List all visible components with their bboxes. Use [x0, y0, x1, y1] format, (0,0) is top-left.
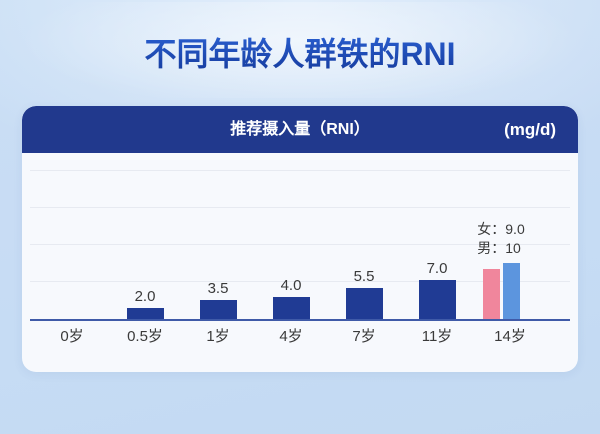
- tick-label-0y: 0岁: [60, 325, 83, 346]
- bar-value-label: 5.5: [354, 268, 375, 285]
- tick-label-11y: 11岁: [422, 325, 453, 346]
- bar-value-label: 7.0: [427, 260, 448, 277]
- bar-group-4y[interactable]: 4.0: [264, 297, 318, 319]
- chart-bars: 2.0 3.5 4.0 5.5 7.0: [30, 153, 570, 319]
- card-header: 推荐摄入量（RNI） (mg/d): [22, 106, 578, 153]
- chart-baseline-axis: [30, 319, 570, 321]
- tick-label-7y: 7岁: [352, 325, 375, 346]
- bar-1y[interactable]: [200, 300, 237, 319]
- pair-female-label: 女：9.0: [477, 220, 524, 239]
- bar-group-14y[interactable]: 女：9.0 男：10: [479, 263, 523, 319]
- bar-7y[interactable]: [346, 288, 383, 319]
- tick-label-1y: 1岁: [206, 325, 229, 346]
- bar-group-11y[interactable]: 7.0: [410, 280, 464, 319]
- card-header-title: 推荐摄入量（RNI）: [22, 106, 578, 153]
- pair-annotation: 女：9.0 男：10: [477, 220, 524, 258]
- bar-14y-female[interactable]: [483, 269, 500, 319]
- bar-0.5y[interactable]: [127, 308, 164, 319]
- bar-4y[interactable]: [273, 297, 310, 319]
- bar-chart: 2.0 3.5 4.0 5.5 7.0: [22, 153, 578, 372]
- pair-male-label: 男：10: [477, 239, 524, 258]
- page-title: 不同年龄人群铁的RNI: [0, 34, 600, 74]
- tick-label-0.5y: 0.5岁: [127, 325, 163, 346]
- bar-group-1y[interactable]: 3.5: [191, 300, 245, 319]
- bar-value-label: 2.0: [135, 288, 156, 305]
- tick-label-4y: 4岁: [279, 325, 302, 346]
- bar-group-7y[interactable]: 5.5: [337, 288, 391, 319]
- bar-value-label: 4.0: [281, 277, 302, 294]
- tick-label-14y: 14岁: [494, 325, 526, 346]
- bar-group-0.5y[interactable]: 2.0: [118, 308, 172, 319]
- bar-14y-male[interactable]: [503, 263, 520, 319]
- chart-x-axis-labels: 0岁 0.5岁 1岁 4岁 7岁 11岁 14岁: [30, 325, 570, 353]
- card-header-unit: (mg/d): [504, 106, 556, 153]
- infographic-page: 不同年龄人群铁的RNI 推荐摄入量（RNI） (mg/d) 2.0 3.5: [0, 0, 600, 434]
- bar-11y[interactable]: [419, 280, 456, 319]
- rni-card: 推荐摄入量（RNI） (mg/d) 2.0 3.5: [22, 106, 578, 372]
- bar-value-label: 3.5: [208, 280, 229, 297]
